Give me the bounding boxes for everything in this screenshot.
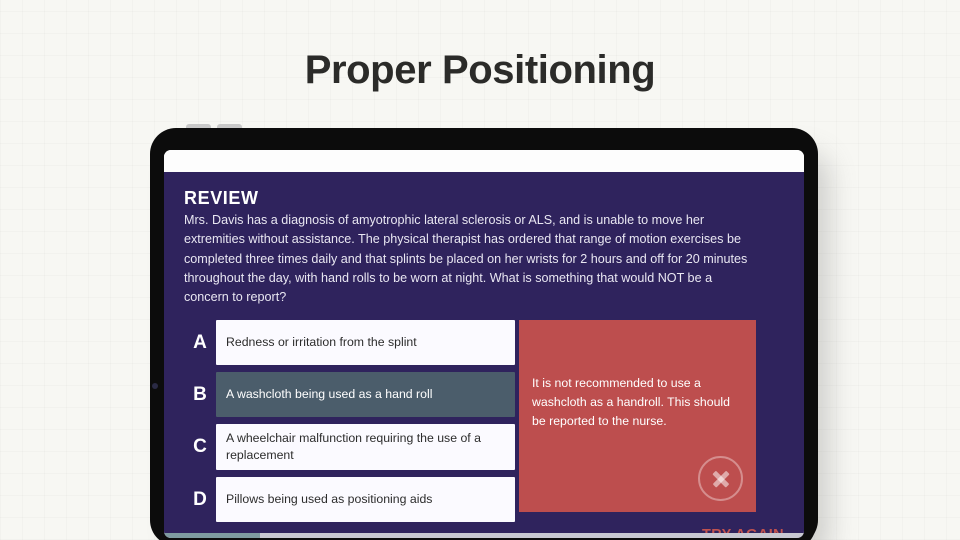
option-text-c[interactable]: A wheelchair malfunction requiring the u… [216,424,515,470]
question-text: Mrs. Davis has a diagnosis of amyotrophi… [184,211,758,307]
option-letter-d: D [184,489,216,511]
tablet-screen: REVIEW Mrs. Davis has a diagnosis of amy… [164,150,804,538]
answer-options-list: A Redness or irritation from the splint … [184,320,515,529]
screen-topbar [164,150,804,172]
answer-option-d[interactable]: D Pillows being used as positioning aids [184,477,515,522]
option-letter-c: C [184,436,216,458]
option-letter-a: A [184,332,216,354]
x-circle-icon [698,456,743,501]
option-text-d[interactable]: Pillows being used as positioning aids [216,477,515,522]
progress-bar-fill [164,533,260,538]
answer-option-c[interactable]: C A wheelchair malfunction requiring the… [184,424,515,470]
option-letter-b: B [184,384,216,406]
page-title: Proper Positioning [0,48,960,92]
camera-icon [152,383,158,389]
option-text-b[interactable]: A washcloth being used as a hand roll [216,372,515,417]
feedback-panel: It is not recommended to use a washcloth… [519,320,756,512]
answer-option-b[interactable]: B A washcloth being used as a hand roll [184,372,515,417]
answer-option-a[interactable]: A Redness or irritation from the splint [184,320,515,365]
feedback-text: It is not recommended to use a washcloth… [532,374,743,431]
lesson-slide: REVIEW Mrs. Davis has a diagnosis of amy… [164,172,804,538]
option-text-a[interactable]: Redness or irritation from the splint [216,320,515,365]
review-heading: REVIEW [184,188,784,209]
answer-area: A Redness or irritation from the splint … [184,320,784,529]
progress-bar[interactable] [164,533,804,538]
